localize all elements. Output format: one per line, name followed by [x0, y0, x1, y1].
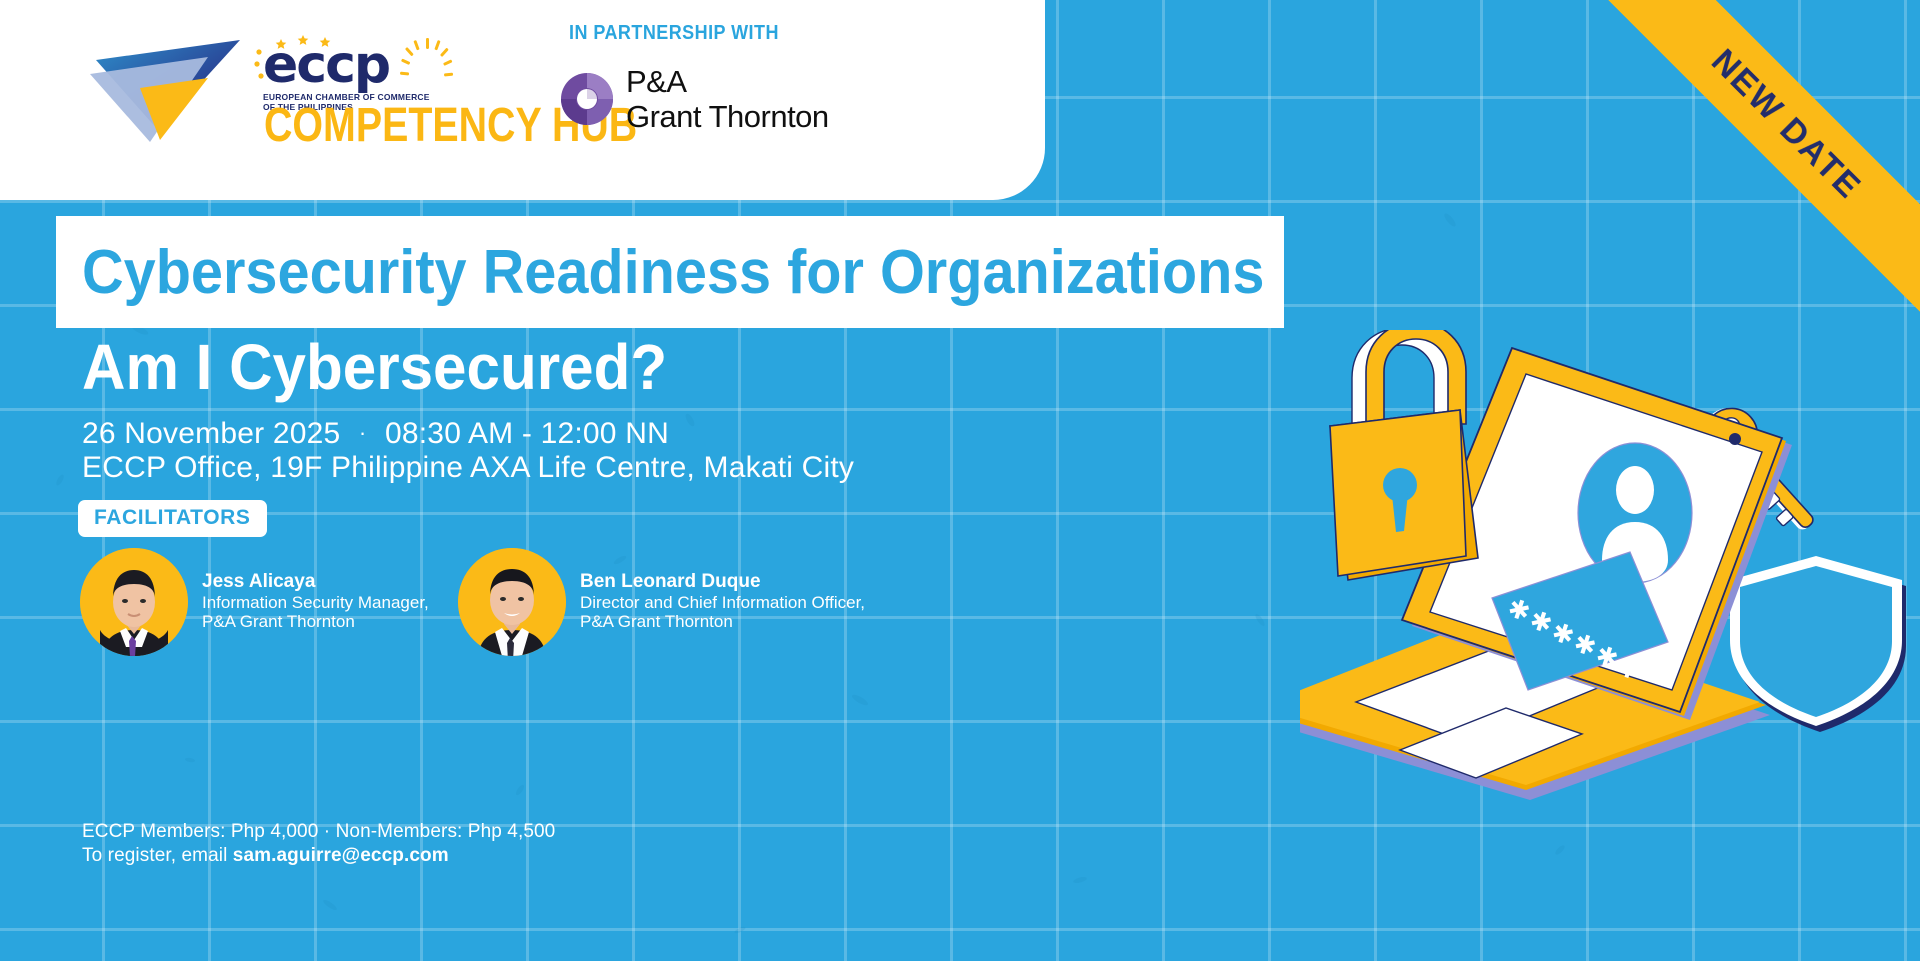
facilitator-card: Ben Leonard Duque Director and Chief Inf…: [458, 548, 865, 656]
partner-line2: Grant Thornton: [626, 99, 829, 134]
grant-thornton-wordmark: P&A Grant Thornton: [626, 64, 829, 134]
facilitator-info: Jess Alicaya Information Security Manage…: [202, 572, 429, 632]
eccp-arrow-mark: [88, 22, 263, 142]
pricing-line: ECCP Members: Php 4,000 · Non-Members: P…: [82, 820, 555, 844]
register-line: To register, email sam.aguirre@eccp.com: [82, 844, 555, 868]
facilitators-badge: FACILITATORS: [78, 500, 267, 537]
event-subtitle: Am I Cybersecured?: [82, 330, 667, 404]
grant-thornton-logo: P&A Grant Thornton: [560, 64, 829, 134]
register-prefix: To register, email: [82, 845, 233, 866]
registration-info: ECCP Members: Php 4,000 · Non-Members: P…: [82, 820, 555, 868]
facilitator-org: P&A Grant Thornton: [580, 612, 865, 632]
padlock-icon: [1330, 330, 1478, 580]
facilitator-avatar: [80, 548, 188, 656]
event-date: 26 November 2025: [82, 417, 340, 450]
partner-line1: P&A: [626, 64, 829, 99]
event-banner: NEW DATE: [0, 0, 1920, 961]
header-panel: eccp EUROPEAN CHAMBER OF COMMERCE OF THE…: [0, 0, 1045, 200]
facilitator-org: P&A Grant Thornton: [202, 612, 429, 632]
facilitator-role: Director and Chief Information Officer,: [580, 593, 865, 613]
facilitator-name: Jess Alicaya: [202, 572, 429, 592]
avatar-photo-jess-alicaya: [80, 548, 188, 656]
datetime-separator: ·: [349, 420, 377, 445]
facilitator-info: Ben Leonard Duque Director and Chief Inf…: [580, 572, 865, 632]
event-venue: ECCP Office, 19F Philippine AXA Life Cen…: [82, 451, 854, 485]
laptop-security-artwork: ✱ ✱ ✱ ✱ ✱ ✱: [1300, 330, 1920, 800]
grant-thornton-swirl-icon: [560, 72, 614, 126]
facilitator-avatar: [458, 548, 566, 656]
event-title: Cybersecurity Readiness for Organization…: [82, 237, 1264, 308]
eccp-logo: eccp EUROPEAN CHAMBER OF COMMERCE OF THE…: [88, 22, 508, 142]
event-datetime: 26 November 2025 · 08:30 AM - 12:00 NN: [82, 417, 669, 451]
avatar-photo-ben-leonard-duque: [458, 548, 566, 656]
event-title-band: Cybersecurity Readiness for Organization…: [56, 216, 1284, 328]
eccp-stars-sun: [251, 34, 481, 92]
partnership-block: IN PARTNERSHIP WITH P&A Grant Thornton: [560, 22, 980, 45]
user-avatar-icon: [1578, 443, 1692, 583]
facilitator-card: Jess Alicaya Information Security Manage…: [80, 548, 429, 656]
facilitator-name: Ben Leonard Duque: [580, 572, 865, 592]
event-time: 08:30 AM - 12:00 NN: [385, 417, 669, 450]
register-email[interactable]: sam.aguirre@eccp.com: [233, 845, 449, 866]
header-content: eccp EUROPEAN CHAMBER OF COMMERCE OF THE…: [0, 0, 1045, 200]
cybersecurity-illustration: ✱ ✱ ✱ ✱ ✱ ✱: [1300, 330, 1920, 800]
partnership-label: IN PARTNERSHIP WITH: [569, 22, 939, 45]
facilitator-role: Information Security Manager,: [202, 593, 429, 613]
